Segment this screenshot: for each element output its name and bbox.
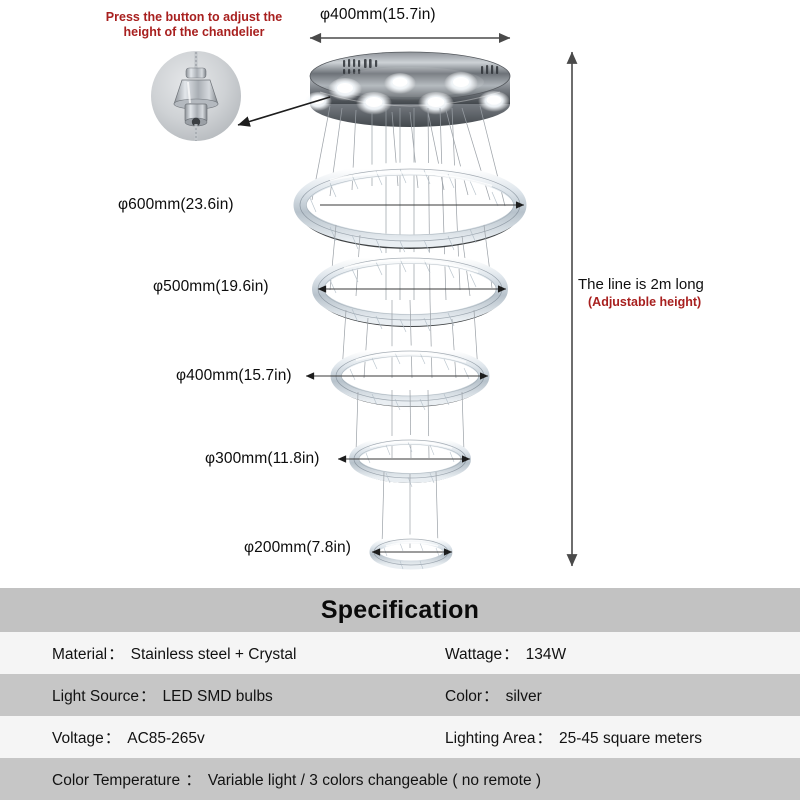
line-length-main-text: The line is 2m long: [578, 275, 788, 294]
specification-title: Specification: [321, 596, 479, 625]
table-row: Material：Stainless steel + Crystal Watta…: [0, 632, 800, 674]
spec-value: AC85-265v: [121, 730, 205, 747]
table-row: Voltage：AC85-265v Lighting Area：25-45 sq…: [0, 716, 800, 758]
spec-key: Light Source: [52, 688, 139, 705]
line-length-sub-text: (Adjustable height): [578, 294, 788, 311]
spec-value: 25-45 square meters: [553, 730, 702, 747]
ring-400mm-label: φ400mm(15.7in): [176, 367, 292, 385]
press-button-note: Press the button to adjust the height of…: [96, 10, 292, 40]
ring-500mm-label: φ500mm(19.6in): [153, 278, 269, 296]
table-row: Color Temperature ：Variable light / 3 co…: [0, 758, 800, 800]
spec-separator: ：: [184, 772, 202, 789]
spec-separator: ：: [502, 646, 520, 663]
spec-key: Color Temperature: [52, 772, 184, 789]
ring-600mm: [300, 169, 520, 255]
spec-key: Wattage: [445, 646, 502, 663]
spec-cell-lighting-area: Lighting Area：25-45 square meters: [445, 726, 702, 748]
spec-cell-color-temperature: Color Temperature ：Variable light / 3 co…: [52, 768, 541, 790]
spec-separator: ：: [139, 688, 157, 705]
spec-separator: ：: [482, 688, 500, 705]
table-row: Light Source：LED SMD bulbs Color：silver: [0, 674, 800, 716]
ring-200mm-label: φ200mm(7.8in): [244, 539, 351, 557]
button-detail-callout: [151, 51, 330, 144]
spec-separator: ：: [107, 646, 125, 663]
spec-key: Lighting Area: [445, 730, 536, 747]
spec-value: 134W: [520, 646, 567, 663]
ring-200mm: [374, 539, 448, 569]
ceiling-canopy: [304, 52, 510, 127]
spec-value: LED SMD bulbs: [157, 688, 273, 705]
spec-key: Voltage: [52, 730, 104, 747]
line-length-note: The line is 2m long (Adjustable height): [578, 275, 788, 311]
spec-cell-wattage: Wattage：134W: [445, 642, 566, 664]
spec-cell-light-source: Light Source：LED SMD bulbs: [52, 684, 273, 706]
spec-cell-material: Material：Stainless steel + Crystal: [52, 642, 297, 664]
spec-value: silver: [500, 688, 542, 705]
specification-table: Specification Material：Stainless steel +…: [0, 588, 800, 800]
spec-separator: ：: [104, 730, 122, 747]
ring-300mm-label: φ300mm(11.8in): [205, 450, 320, 468]
spec-cell-voltage: Voltage：AC85-265v: [52, 726, 205, 748]
canopy-dimension-label: φ400mm(15.7in): [320, 6, 436, 24]
ring-600mm-label: φ600mm(23.6in): [118, 196, 234, 214]
spec-key: Color: [445, 688, 482, 705]
spec-value: Variable light / 3 colors changeable ( n…: [202, 772, 541, 789]
spec-separator: ：: [536, 730, 554, 747]
specification-header: Specification: [0, 588, 800, 632]
spec-value: Stainless steel + Crystal: [125, 646, 297, 663]
spec-key: Material: [52, 646, 107, 663]
product-illustration: Press the button to adjust the height of…: [0, 0, 800, 588]
spec-cell-color: Color：silver: [445, 684, 542, 706]
